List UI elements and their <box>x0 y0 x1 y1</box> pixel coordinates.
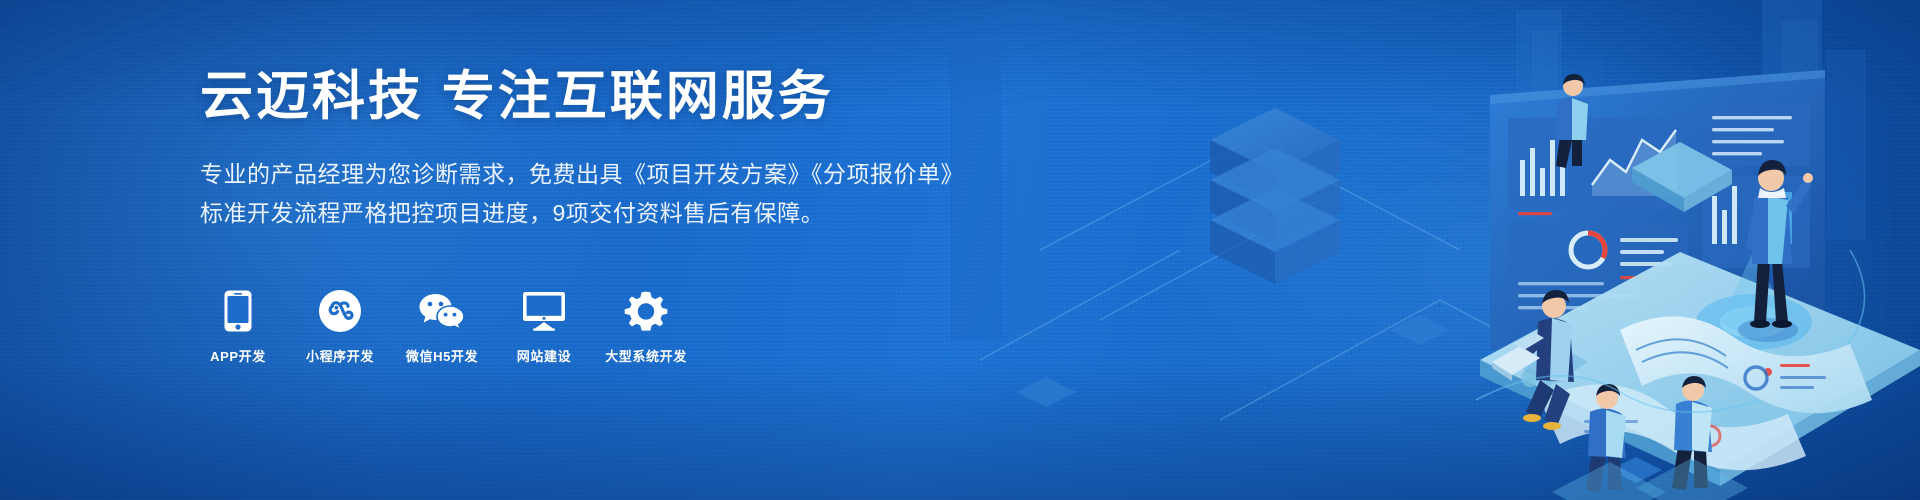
subtitle-line-1: 专业的产品经理为您诊断需求，免费出具《项目开发方案》《分项报价单》 <box>200 155 1100 194</box>
gear-icon <box>624 288 668 334</box>
service-item-large-system[interactable]: 大型系统开发 <box>608 288 684 365</box>
banner-copy: 云迈科技 专注互联网服务 专业的产品经理为您诊断需求，免费出具《项目开发方案》《… <box>200 66 1100 233</box>
service-item-website[interactable]: 网站建设 <box>506 288 582 365</box>
service-label: 微信H5开发 <box>406 346 478 365</box>
service-list: APP开发 小程序开发 <box>200 288 684 365</box>
wechat-bubbles-icon <box>417 288 467 334</box>
promo-banner: 云迈科技 专注互联网服务 专业的产品经理为您诊断需求，免费出具《项目开发方案》《… <box>0 0 1920 500</box>
subtitle-line-2: 标准开发流程严格把控项目进度，9项交付资料售后有保障。 <box>200 194 1100 233</box>
service-label: 网站建设 <box>517 346 571 365</box>
server-stack-cube <box>1210 108 1340 284</box>
mobile-phone-icon <box>223 288 253 334</box>
page-title: 云迈科技 专注互联网服务 <box>200 66 1100 129</box>
service-label: 大型系统开发 <box>605 346 687 365</box>
service-item-wechat-h5[interactable]: 微信H5开发 <box>404 288 480 365</box>
mini-program-icon <box>318 288 362 334</box>
service-label: APP开发 <box>210 346 266 365</box>
service-item-app[interactable]: APP开发 <box>200 288 276 365</box>
service-label: 小程序开发 <box>306 346 374 365</box>
service-item-mini-program[interactable]: 小程序开发 <box>302 288 378 365</box>
monitor-icon <box>521 288 567 334</box>
